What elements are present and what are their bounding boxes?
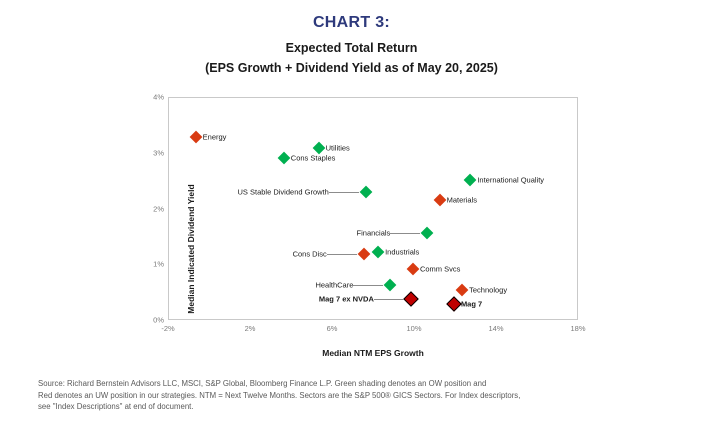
footnote-line-3: see "Index Descriptions" at end of docum… (38, 401, 668, 413)
data-point-technology[interactable] (456, 284, 469, 297)
point-label-technology: Technology (469, 286, 507, 295)
footnote-line-1: Source: Richard Bernstein Advisors LLC, … (38, 378, 668, 390)
point-label-materials: Materials (447, 196, 477, 205)
x-tick-3: 10% (394, 324, 434, 333)
data-point-utilities[interactable] (312, 142, 325, 155)
chart-page: CHART 3: Expected Total Return (EPS Grow… (0, 0, 703, 429)
leader-line (374, 299, 404, 300)
data-point-comm-svcs[interactable] (407, 263, 420, 276)
point-label-cons-staples: Cons Staples (291, 154, 336, 163)
leader-line (327, 254, 357, 255)
data-point-energy[interactable] (189, 131, 202, 144)
y-axis-title: Median Indicated Dividend Yield (186, 169, 196, 329)
data-point-materials[interactable] (433, 194, 446, 207)
x-tick-4: 14% (476, 324, 516, 333)
chart-subtitle: (EPS Growth + Dividend Yield as of May 2… (0, 61, 703, 75)
point-label-mag-7-ex-nvda: Mag 7 ex NVDA (319, 294, 374, 303)
data-point-us-stable-dividend-growth[interactable] (359, 185, 372, 198)
x-axis-title: Median NTM EPS Growth (168, 348, 578, 358)
data-point-mag-7-ex-nvda[interactable] (403, 291, 419, 307)
source-footnote: Source: Richard Bernstein Advisors LLC, … (38, 378, 668, 413)
point-label-energy: Energy (203, 133, 227, 142)
leader-line (353, 285, 383, 286)
point-label-industrials: Industrials (385, 247, 419, 256)
data-point-cons-staples[interactable] (277, 152, 290, 165)
x-tick-1: 2% (230, 324, 270, 333)
y-tick-2: 2% (130, 204, 164, 213)
data-point-healthcare[interactable] (384, 279, 397, 292)
footnote-line-2: Red denotes an UW position in our strate… (38, 390, 668, 402)
data-point-financials[interactable] (421, 227, 434, 240)
y-tick-3: 3% (130, 148, 164, 157)
x-tick-2: 6% (312, 324, 352, 333)
scatter-points-layer: UtilitiesCons StaplesUS Stable Dividend … (169, 98, 577, 319)
data-point-international-quality[interactable] (464, 174, 477, 187)
y-axis-tick-labels: 0%1%2%3%4% (128, 97, 164, 320)
y-tick-4: 4% (130, 93, 164, 102)
x-axis-tick-labels: -2%2%6%10%14%18% (168, 324, 578, 338)
point-label-comm-svcs: Comm Svcs (420, 265, 460, 274)
point-label-mag-7: Mag 7 (461, 299, 482, 308)
point-label-us-stable-dividend-growth: US Stable Dividend Growth (238, 187, 329, 196)
point-label-healthcare: HealthCare (315, 281, 353, 290)
y-tick-1: 1% (130, 260, 164, 269)
x-tick-0: -2% (148, 324, 188, 333)
x-tick-5: 18% (558, 324, 598, 333)
plot-area: UtilitiesCons StaplesUS Stable Dividend … (168, 97, 578, 320)
leader-line (329, 192, 359, 193)
data-point-cons-disc[interactable] (357, 248, 370, 261)
data-point-mag-7[interactable] (446, 296, 462, 312)
chart-number-title: CHART 3: (0, 14, 703, 32)
point-label-financials: Financials (357, 228, 391, 237)
data-point-industrials[interactable] (372, 245, 385, 258)
point-label-cons-disc: Cons Disc (293, 250, 327, 259)
point-label-international-quality: International Quality (477, 175, 544, 184)
point-label-utilities: Utilities (326, 144, 350, 153)
chart-title: Expected Total Return (0, 41, 703, 55)
leader-line (390, 233, 420, 234)
